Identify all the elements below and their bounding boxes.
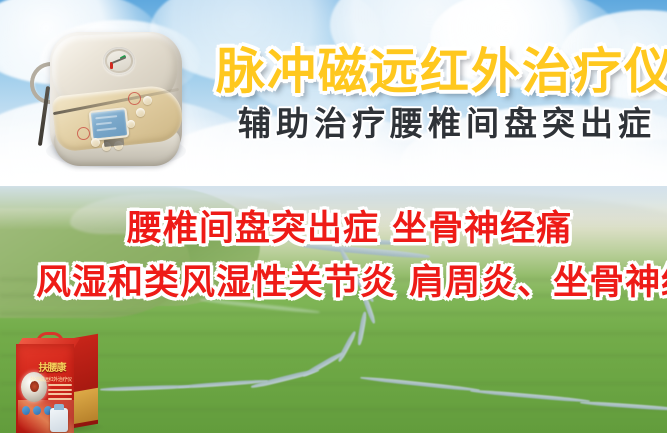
device-mode-button	[77, 127, 90, 140]
box-accessory-image	[50, 408, 68, 432]
retail-gift-box-image: 扶腰康 脉冲磁远红外治疗仪	[12, 332, 104, 433]
device-lcd-screen	[89, 107, 130, 141]
river-segment	[250, 368, 319, 390]
box-text-line	[48, 398, 72, 400]
box-product-name: 脉冲磁远红外治疗仪	[28, 377, 74, 384]
device-power-button	[128, 92, 141, 105]
box-brand-logo: 扶腰康	[32, 362, 72, 375]
lcd-row	[96, 127, 116, 131]
box-text-line	[48, 389, 72, 391]
box-feature-lines	[48, 384, 72, 406]
device-round-button	[136, 108, 145, 117]
therapy-device-image	[28, 14, 203, 179]
device-round-button	[91, 138, 100, 147]
box-badge-icon	[33, 406, 41, 415]
river-segment	[357, 311, 368, 345]
headline-secondary: 风湿和类风湿性关节炎 肩周炎、坐骨神经痛	[36, 262, 667, 304]
river-segment	[470, 389, 590, 403]
box-gold-band	[74, 388, 98, 424]
page-subtitle: 辅助治疗腰椎间盘突出症	[238, 104, 648, 144]
page-title: 脉冲磁远红外治疗仪	[216, 44, 656, 100]
headline-primary: 腰椎间盘突出症 坐骨神经痛	[127, 208, 572, 250]
box-front-panel: 扶腰康 脉冲磁远红外治疗仪	[16, 344, 74, 433]
advertisement-banner: 脉冲磁远红外治疗仪 辅助治疗腰椎间盘突出症 腰椎间盘突出症	[0, 0, 667, 433]
field-texture-line	[0, 312, 667, 315]
lcd-row	[95, 115, 117, 119]
river-segment	[337, 330, 357, 362]
box-text-line	[48, 393, 72, 395]
lcd-row	[96, 122, 112, 126]
box-text-line	[48, 384, 72, 386]
device-gauge-dial	[103, 47, 135, 75]
box-badge-icon	[22, 406, 30, 415]
device-round-button	[127, 120, 135, 128]
box-accessory-cap	[54, 404, 64, 410]
gauge-face	[107, 51, 131, 71]
device-round-button	[143, 96, 152, 105]
page-title-text: 脉冲磁远红外治疗仪	[216, 43, 667, 100]
river-segment	[100, 384, 190, 391]
